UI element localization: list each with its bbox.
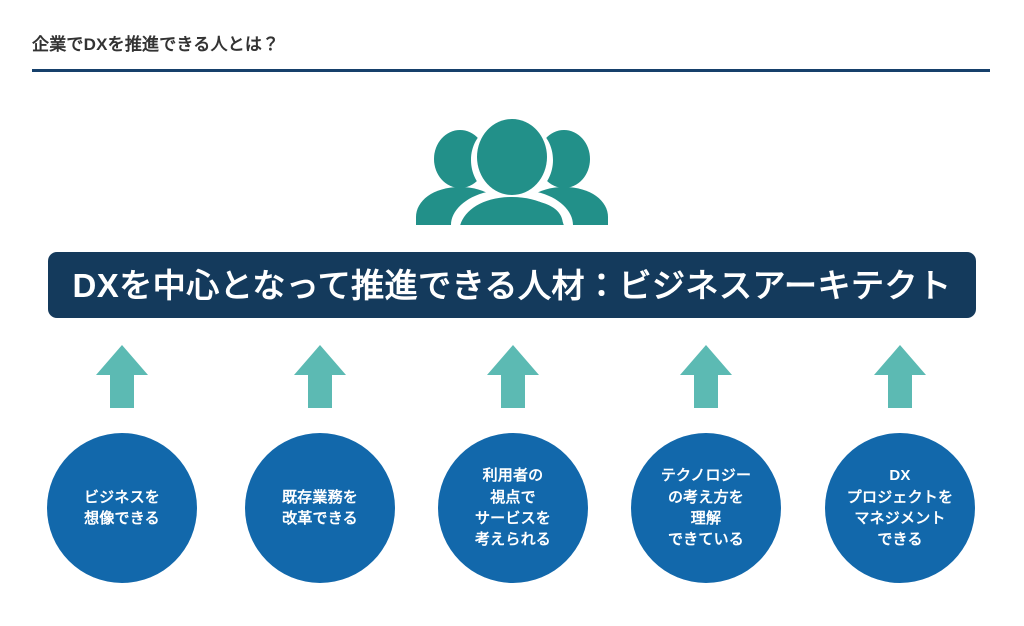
- arrow-up-icon: [293, 344, 347, 409]
- slide-root: { "header": { "title": "企業でDXを推進できる人とは？"…: [0, 0, 1024, 626]
- arrow-up-icon: [95, 344, 149, 409]
- skills-row: ビジネスを 想像できる 既存業務を 改革できる 利用者の 視点で サービスを 考…: [0, 340, 1024, 600]
- skill-label: ビジネスを 想像できる: [78, 487, 166, 530]
- main-banner-label: DXを中心となって推進できる人材：ビジネスアーキテクト: [72, 269, 951, 302]
- skill-label: DX プロジェクトを マネジメント できる: [841, 465, 959, 550]
- skill-label: テクノロジー の考え方を 理解 できている: [655, 465, 757, 550]
- arrow-up-icon: [679, 344, 733, 409]
- main-banner: DXを中心となって推進できる人材：ビジネスアーキテクト: [48, 252, 976, 318]
- skill-column: 既存業務を 改革できる: [240, 340, 400, 600]
- skill-circle[interactable]: DX プロジェクトを マネジメント できる: [825, 433, 975, 583]
- title-divider: [32, 69, 990, 72]
- skill-label: 既存業務を 改革できる: [276, 487, 364, 530]
- skill-column: ビジネスを 想像できる: [42, 340, 202, 600]
- arrow-up-icon: [486, 344, 540, 409]
- skill-circle[interactable]: ビジネスを 想像できる: [47, 433, 197, 583]
- skill-column: テクノロジー の考え方を 理解 できている: [626, 340, 786, 600]
- page-title: 企業でDXを推進できる人とは？: [32, 30, 279, 55]
- skill-column: 利用者の 視点で サービスを 考えられる: [433, 340, 593, 600]
- skill-circle[interactable]: 利用者の 視点で サービスを 考えられる: [438, 433, 588, 583]
- skill-circle[interactable]: テクノロジー の考え方を 理解 できている: [631, 433, 781, 583]
- skill-label: 利用者の 視点で サービスを 考えられる: [469, 465, 557, 550]
- arrow-up-icon: [873, 344, 927, 409]
- skill-circle[interactable]: 既存業務を 改革できる: [245, 433, 395, 583]
- people-group-icon: [412, 117, 612, 225]
- skill-column: DX プロジェクトを マネジメント できる: [820, 340, 980, 600]
